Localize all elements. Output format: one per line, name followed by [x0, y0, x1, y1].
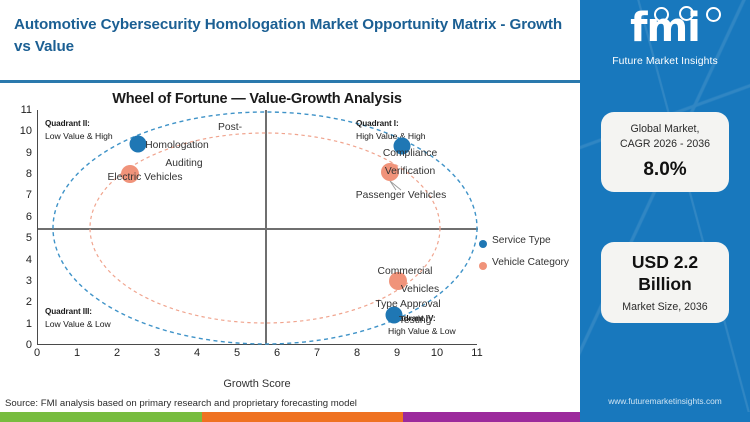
legend-item-vehicle-category[interactable]: Vehicle Category [479, 257, 579, 279]
legend-label: Vehicle Category [492, 257, 569, 268]
website-url[interactable]: www.futuremarketinsights.com [580, 396, 750, 406]
fmi-logo: fmi Future Market Insights [592, 6, 738, 74]
point-label: Verification [385, 166, 435, 179]
header-divider [0, 80, 580, 83]
x-tick-label: 1 [65, 347, 89, 359]
legend-dot-icon [479, 240, 487, 248]
cagr-value: 8.0% [607, 159, 723, 182]
source-note: Source: FMI analysis based on primary re… [5, 398, 357, 409]
legend-dot-icon [479, 262, 487, 270]
y-axis-title-wrap: Value Score [0, 110, 14, 345]
x-tick-label: 7 [305, 347, 329, 359]
market-size-label: Market Size, 2036 [607, 301, 723, 313]
legend-label: Service Type [492, 235, 551, 246]
x-tick-label: 5 [225, 347, 249, 359]
x-tick-label: 4 [185, 347, 209, 359]
x-tick-label: 6 [265, 347, 289, 359]
main-content-pane: Automotive Cybersecurity Homologation Ma… [0, 0, 580, 422]
x-tick-label: 2 [105, 347, 129, 359]
plot-area: Quadrant II: Low Value & High Quadrant I… [37, 110, 477, 345]
point-label: Commercial [378, 266, 433, 279]
bottom-bar-segment [0, 412, 202, 422]
bottom-bar-segment [580, 412, 750, 422]
stat-card-market-size: USD 2.2 Billion Market Size, 2036 [601, 242, 729, 323]
x-tick-label: 8 [345, 347, 369, 359]
logo-tagline: Future Market Insights [592, 56, 738, 67]
x-tick-label: 9 [385, 347, 409, 359]
point-label: Post- [218, 122, 242, 135]
x-tick-label: 3 [145, 347, 169, 359]
point-label: Compliance [383, 148, 437, 161]
bottom-color-bar [0, 412, 750, 422]
point-label: Testing [399, 315, 432, 328]
bottom-bar-segment [202, 412, 403, 422]
x-axis-title: Growth Score [37, 378, 477, 390]
infographic-root: Automotive Cybersecurity Homologation Ma… [0, 0, 750, 422]
cagr-label-line1: Global Market, [607, 122, 723, 137]
bottom-bar-segment [403, 412, 580, 422]
point-label: Auditing [165, 158, 202, 171]
x-tick-label: 11 [465, 347, 489, 359]
x-tick-label: 0 [25, 347, 49, 359]
x-tick-label: 10 [425, 347, 449, 359]
page-title: Automotive Cybersecurity Homologation Ma… [14, 14, 566, 57]
chart-title: Wheel of Fortune — Value-Growth Analysis [37, 91, 477, 107]
x-axis-ticks: 01234567891011 [37, 347, 477, 365]
point-label: Electric Vehicles [108, 172, 183, 185]
legend-item-service-type[interactable]: Service Type [479, 235, 579, 257]
point-labels-layer: Post-HomologationAuditingElectric Vehicl… [38, 110, 477, 344]
point-label: Passenger Vehicles [356, 190, 446, 203]
point-label: Homologation [145, 140, 209, 153]
stat-card-cagr: Global Market, CAGR 2026 - 2036 8.0% [601, 112, 729, 192]
point-label: Vehicles [401, 284, 439, 297]
point-label: Type Approval [375, 299, 440, 312]
chart-legend: Service Type Vehicle Category [479, 235, 579, 279]
brand-sidebar: fmi Future Market Insights Global Market… [580, 0, 750, 422]
market-size-value-line2: Billion [607, 274, 723, 296]
logo-wordmark: fmi [592, 8, 738, 48]
cagr-label-line2: CAGR 2026 - 2036 [607, 137, 723, 152]
market-size-value-line1: USD 2.2 [607, 252, 723, 274]
